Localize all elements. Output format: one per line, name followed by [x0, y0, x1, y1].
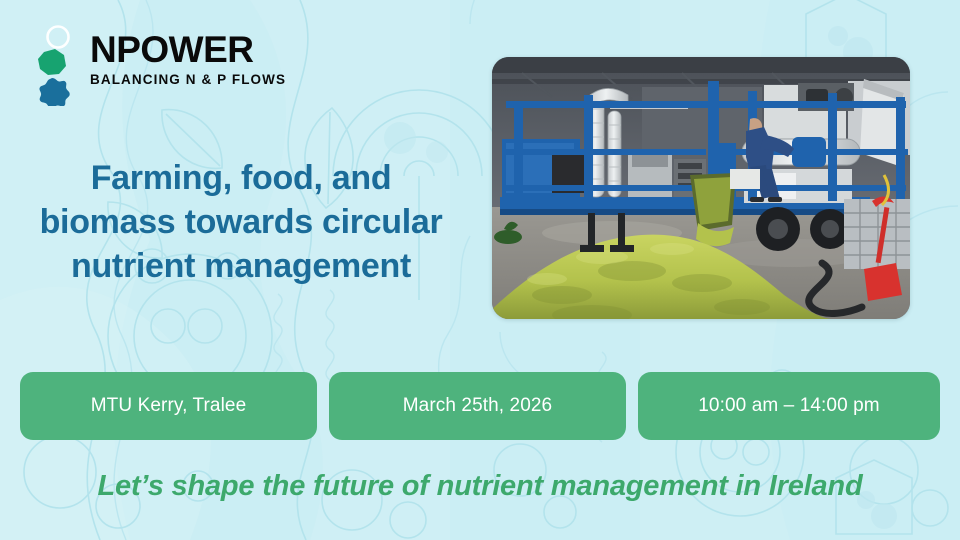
chip-date-label: March 25th, 2026 [403, 395, 552, 417]
chip-date[interactable]: March 25th, 2026 [329, 372, 626, 440]
event-photo-illustration [492, 57, 910, 319]
logo-text: NPOWER BALANCING N & P FLOWS [90, 30, 310, 89]
chip-venue-label: MTU Kerry, Tralee [91, 395, 246, 417]
logo-mark-icon [22, 24, 84, 106]
circle-outline-icon [48, 27, 69, 48]
logo-wordmark: NPOWER [90, 30, 310, 70]
headline-line-3: nutrient management [6, 244, 476, 288]
chip-time-label: 10:00 am – 14:00 pm [698, 395, 879, 417]
headline-line-2: biomass towards circular [6, 200, 476, 244]
chip-time[interactable]: 10:00 am – 14:00 pm [638, 372, 940, 440]
page-title: Farming, food, and biomass towards circu… [6, 156, 476, 288]
headline-line-1: Farming, food, and [6, 156, 476, 200]
event-photo [492, 57, 910, 319]
chip-venue[interactable]: MTU Kerry, Tralee [20, 372, 317, 440]
logo-tagline: BALANCING N & P FLOWS [90, 71, 310, 89]
tagline: Let’s shape the future of nutrient manag… [0, 470, 960, 503]
green-heptagon-icon [38, 49, 66, 75]
npower-logo[interactable]: NPOWER BALANCING N & P FLOWS [22, 24, 312, 106]
banner-stage: .ln { fill:none; stroke:#b3e3ec; stroke-… [0, 0, 960, 540]
event-details-row: MTU Kerry, Tralee March 25th, 2026 10:00… [20, 372, 940, 440]
blue-flower-icon [39, 78, 69, 106]
